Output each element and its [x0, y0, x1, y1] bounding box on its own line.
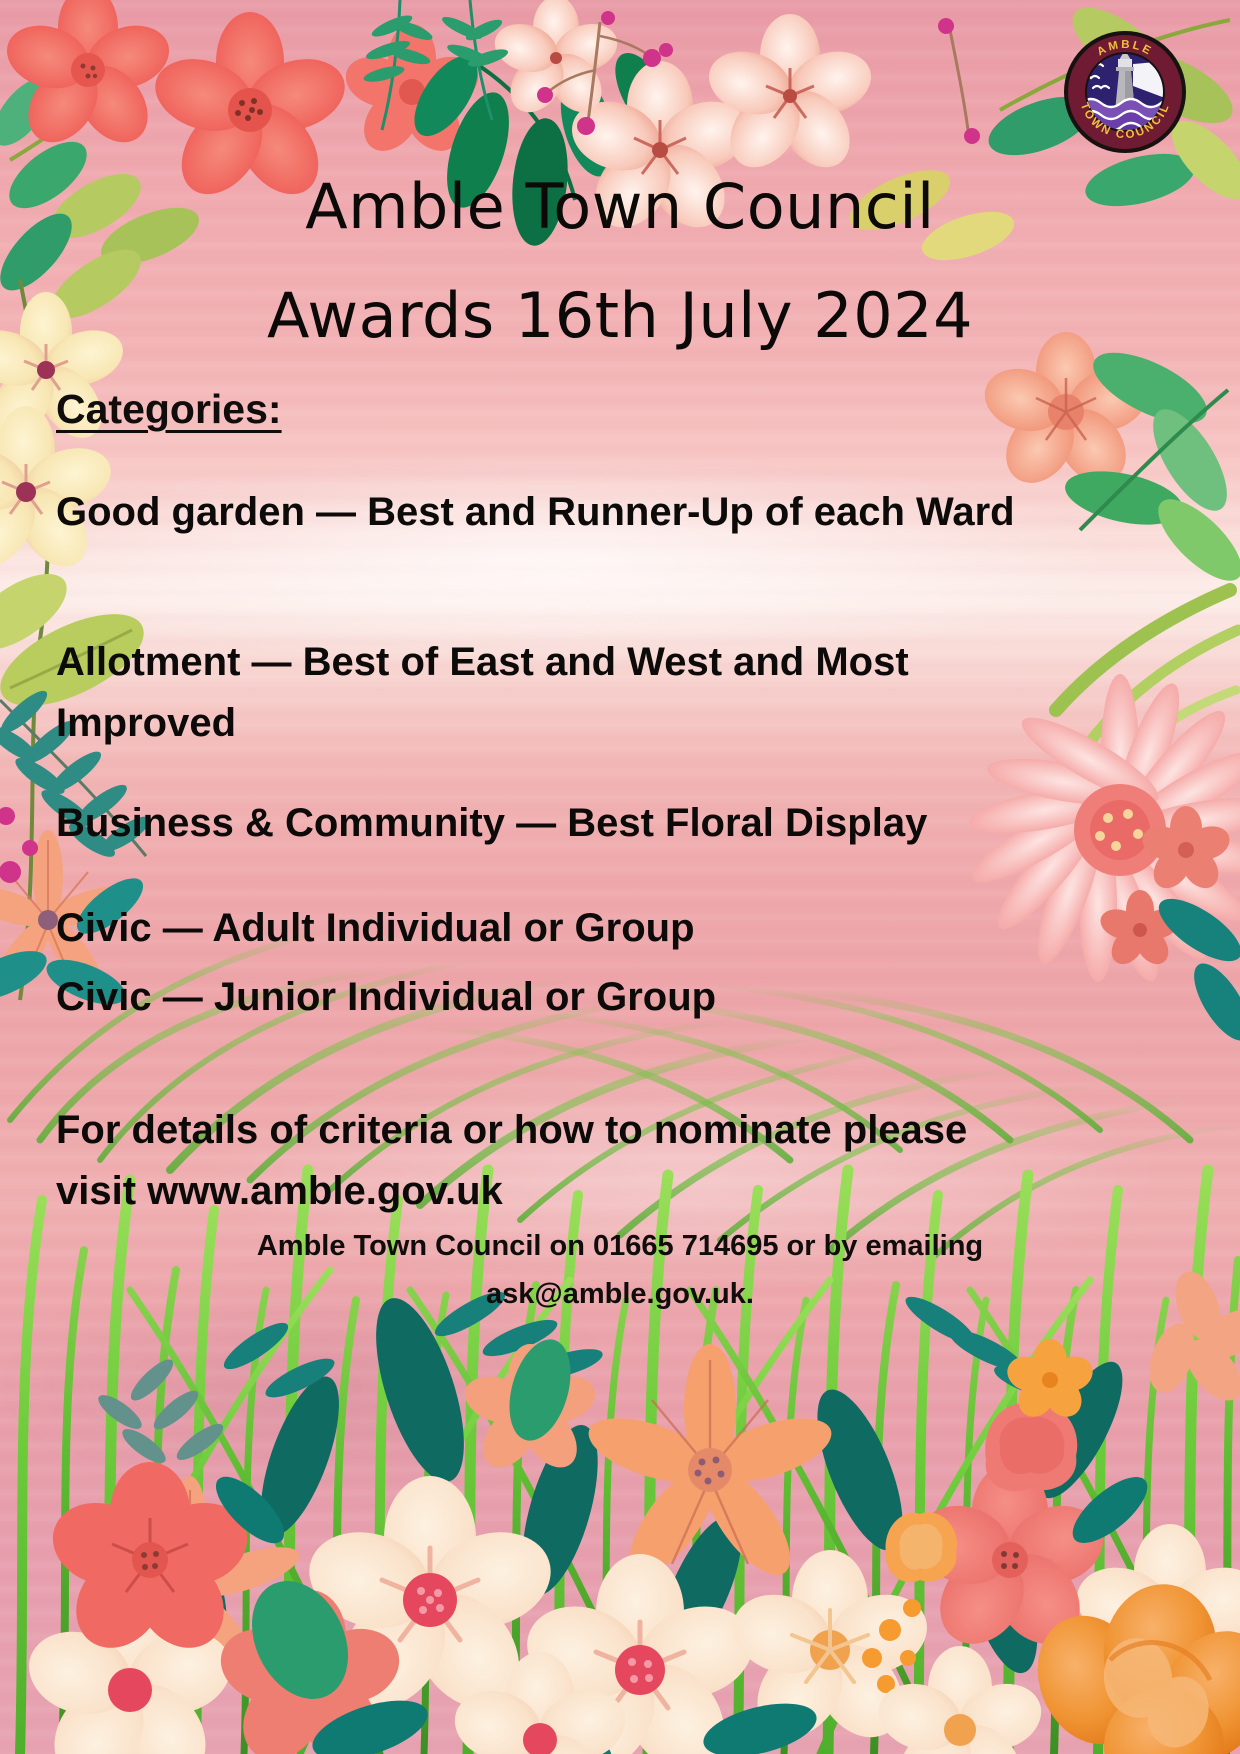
- category-item-civic-adult: Civic — Adult Individual or Group: [56, 898, 1041, 959]
- poster-title-line-1: Amble Town Council: [0, 176, 1240, 238]
- categories-heading: Categories:: [56, 386, 282, 433]
- call-to-action-text: For details of criteria or how to nomina…: [56, 1100, 1016, 1222]
- poster-canvas: AMBLE TOWN COUNCIL Amble Town Council Aw…: [0, 0, 1240, 1754]
- category-item-good-garden: Good garden — Best and Runner-Up of each…: [56, 482, 1041, 543]
- category-item-civic-junior: Civic — Junior Individual or Group: [56, 967, 1041, 1028]
- poster-title-line-2: Awards 16th July 2024: [0, 285, 1240, 347]
- category-item-allotment: Allotment — Best of East and West and Mo…: [56, 632, 1041, 754]
- contact-line-phone: Amble Town Council on 01665 714695 or by…: [70, 1230, 1170, 1263]
- contact-line-email: ask@amble.gov.uk.: [70, 1278, 1170, 1311]
- category-item-business-community: Business & Community — Best Floral Displ…: [56, 793, 1041, 854]
- poster-text-content: Amble Town Council Awards 16th July 2024…: [0, 0, 1240, 1754]
